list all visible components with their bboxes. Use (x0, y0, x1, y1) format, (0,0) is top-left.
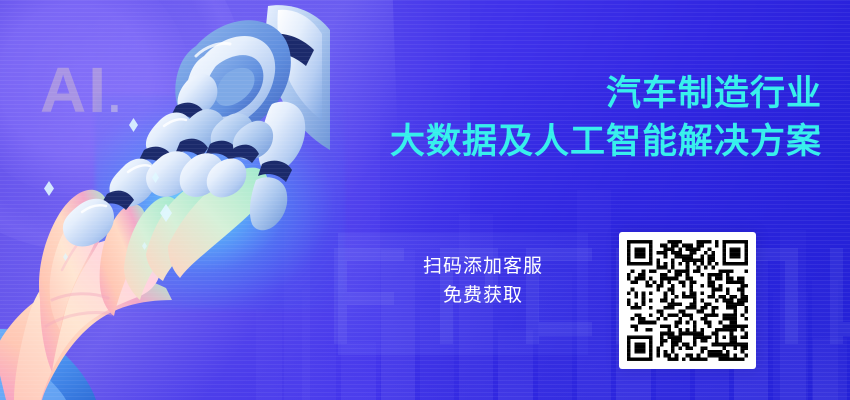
ai-promo-banner: AI. (0, 0, 850, 400)
headline: 汽车制造行业 大数据及人工智能解决方案 (282, 74, 822, 164)
cta-text: 扫码添加客服 免费获取 (392, 252, 574, 311)
hands-illustration (0, 0, 330, 400)
qr-code-image[interactable] (627, 240, 748, 361)
cta-line-1: 扫码添加客服 (392, 252, 574, 281)
headline-line-1: 汽车制造行业 (282, 74, 822, 115)
cta-line-2: 免费获取 (392, 281, 574, 310)
qr-code[interactable] (619, 232, 756, 369)
headline-line-2: 大数据及人工智能解决方案 (282, 122, 822, 163)
